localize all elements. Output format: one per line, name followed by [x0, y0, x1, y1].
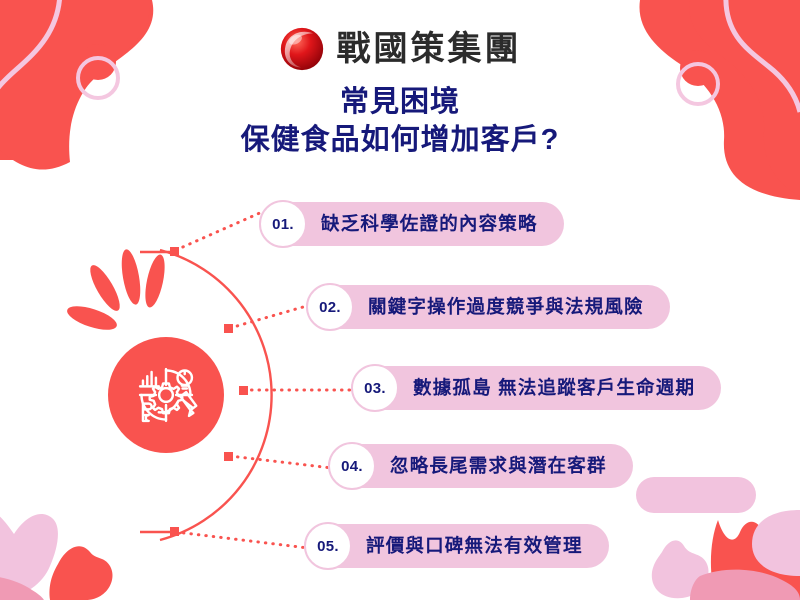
item-number: 02. [319, 300, 341, 315]
item-label: 忽略長尾需求與潛在客群 [390, 457, 607, 476]
item-number-badge: 02. [306, 283, 354, 331]
item-number: 03. [364, 381, 386, 396]
bottom-left-petal-coral [49, 546, 112, 600]
page-title: 常見困境 保健食品如何增加客戶? [0, 86, 800, 157]
arc-node-5 [170, 527, 179, 536]
bottom-left-petal-large [0, 507, 58, 600]
connector-4 [230, 456, 332, 468]
page-title-line2: 保健食品如何增加客戶? [0, 124, 800, 158]
arc-node-1 [170, 247, 179, 256]
arc-node-2 [224, 324, 233, 333]
spark-burst-icon [64, 248, 168, 335]
list-item[interactable]: 缺乏科學佐證的內容策略 01. [259, 202, 564, 246]
item-number: 05. [317, 539, 339, 554]
connector-2 [230, 305, 310, 328]
list-item[interactable]: 忽略長尾需求與潛在客群 04. [328, 444, 633, 488]
brand-name: 戰國策集團 [337, 32, 522, 66]
hub-circle [108, 337, 224, 453]
connector-1 [176, 212, 262, 250]
item-number-badge: 05. [304, 522, 352, 570]
item-pill[interactable]: 數據孤島 無法追蹤客戶生命週期 [351, 366, 721, 410]
bottom-right-pink-pill [636, 477, 756, 513]
bottom-left-petal-rose [0, 576, 44, 600]
item-label: 數據孤島 無法追蹤客戶生命週期 [413, 379, 695, 398]
page-title-line1: 常見困境 [0, 86, 800, 120]
item-number-badge: 03. [351, 364, 399, 412]
item-label: 關鍵字操作過度競爭與法規風險 [368, 298, 644, 317]
list-item[interactable]: 關鍵字操作過度競爭與法規風險 02. [306, 285, 670, 329]
item-number-badge: 01. [259, 200, 307, 248]
item-label: 缺乏科學佐證的內容策略 [321, 215, 538, 234]
strategy-gear-chart-bulb-pencil-puzzle-icon [130, 359, 202, 431]
item-number-badge: 04. [328, 442, 376, 490]
right-edge-pink-lobe [752, 510, 800, 576]
item-pill[interactable]: 關鍵字操作過度競爭與法規風險 [306, 285, 670, 329]
item-number: 01. [272, 217, 294, 232]
bottom-right-rose-blob [690, 570, 800, 600]
red-sphere-logo-icon [279, 26, 325, 72]
list-item[interactable]: 評價與口碑無法有效管理 05. [304, 524, 609, 568]
arc-node-4 [224, 452, 233, 461]
list-item[interactable]: 數據孤島 無法追蹤客戶生命週期 03. [351, 366, 721, 410]
item-label: 評價與口碑無法有效管理 [366, 537, 583, 556]
brand-logo: 戰國策集團 [0, 26, 800, 72]
connector-5 [176, 532, 308, 548]
item-number: 04. [341, 459, 363, 474]
bottom-right-petal-pink [652, 540, 709, 598]
infographic-canvas: 戰國策集團 常見困境 保健食品如何增加客戶? [0, 0, 800, 600]
arc-node-3 [239, 386, 248, 395]
bottom-right-tulip-coral [711, 520, 800, 600]
